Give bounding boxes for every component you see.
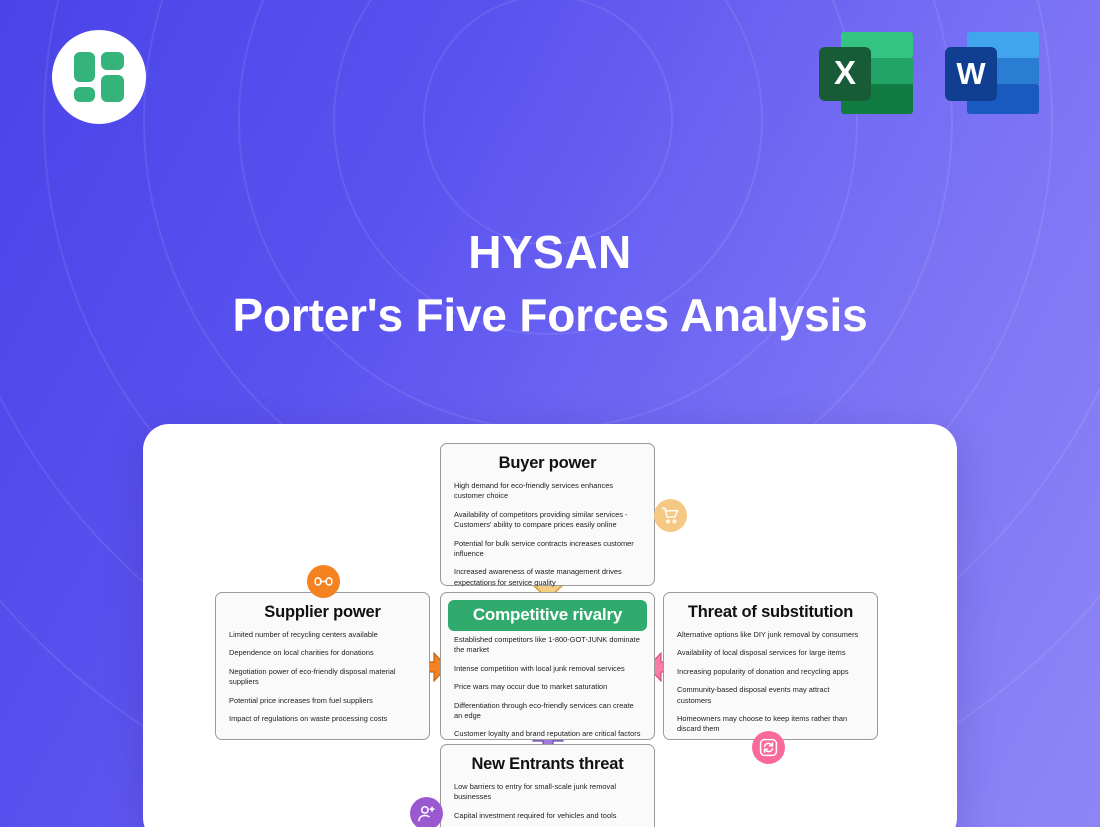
slide-canvas: X W HYSAN Porter's Five Forces Analysis: [0, 0, 1100, 827]
link-chain-icon: [314, 572, 333, 591]
force-item: Customer loyalty and brand reputation ar…: [454, 729, 641, 739]
force-item: Increasing popularity of donation and re…: [677, 667, 864, 677]
ring-1: [423, 0, 673, 245]
force-items: Established competitors like 1-800-GOT-J…: [448, 635, 647, 740]
force-item: Low barriers to entry for small-scale ju…: [454, 782, 641, 803]
refresh-sync-icon: [759, 738, 778, 757]
porters-five-forces-diagram: Buyer power High demand for eco-friendly…: [143, 424, 957, 827]
add-user-icon: [417, 804, 436, 823]
force-item: High demand for eco-friendly services en…: [454, 481, 641, 502]
title-block: HYSAN Porter's Five Forces Analysis: [0, 222, 1100, 348]
force-item: Impact of regulations on waste processin…: [229, 714, 416, 724]
force-items: High demand for eco-friendly services en…: [448, 481, 647, 588]
svg-text:W: W: [956, 56, 986, 91]
force-item: Community-based disposal events may attr…: [677, 685, 864, 706]
force-title: Supplier power: [223, 600, 422, 630]
force-title: Threat of substitution: [671, 600, 870, 630]
force-box-threat-of-substitution[interactable]: Threat of substitution Alternative optio…: [663, 592, 878, 740]
force-items: Alternative options like DIY junk remova…: [671, 630, 870, 735]
grid-dashboard-icon: [71, 49, 127, 105]
new-entrants-threat-badge[interactable]: [410, 797, 443, 827]
force-title: New Entrants threat: [448, 752, 647, 782]
force-item: Availability of local disposal services …: [677, 648, 864, 658]
ring-3: [238, 0, 858, 430]
svg-text:X: X: [834, 54, 856, 91]
diagram-card: Buyer power High demand for eco-friendly…: [143, 424, 957, 827]
force-item: Price wars may occur due to market satur…: [454, 682, 641, 692]
office-app-icons: X W: [816, 28, 1046, 120]
force-title: Buyer power: [448, 451, 647, 481]
force-box-competitive-rivalry[interactable]: Competitive rivalry Established competit…: [440, 592, 655, 740]
force-item: Potential price increases from fuel supp…: [229, 696, 416, 706]
force-box-supplier-power[interactable]: Supplier power Limited number of recycli…: [215, 592, 430, 740]
buyer-power-badge[interactable]: [654, 499, 687, 532]
supplier-power-badge[interactable]: [307, 565, 340, 598]
force-item: Dependence on local charities for donati…: [229, 648, 416, 658]
force-item: Negotiation power of eco-friendly dispos…: [229, 667, 416, 688]
brand-title: HYSAN: [0, 222, 1100, 282]
force-item: Alternative options like DIY junk remova…: [677, 630, 864, 640]
force-item: Intense competition with local junk remo…: [454, 664, 641, 674]
force-item: Established competitors like 1-800-GOT-J…: [454, 635, 641, 656]
force-item: Availability of competitors providing si…: [454, 510, 641, 531]
word-icon: W: [942, 28, 1046, 120]
force-box-buyer-power[interactable]: Buyer power High demand for eco-friendly…: [440, 443, 655, 586]
force-item: Differentiation through eco-friendly ser…: [454, 701, 641, 722]
force-item: Capital investment required for vehicles…: [454, 811, 641, 821]
force-item: Increased awareness of waste management …: [454, 567, 641, 588]
brand-logo: [52, 30, 146, 124]
force-box-new-entrants-threat[interactable]: New Entrants threat Low barriers to entr…: [440, 744, 655, 827]
page-title: Porter's Five Forces Analysis: [0, 282, 1100, 348]
threat-of-substitution-badge[interactable]: [752, 731, 785, 764]
excel-icon: X: [816, 28, 920, 120]
shopping-cart-icon: [661, 506, 680, 525]
force-items: Limited number of recycling centers avai…: [223, 630, 422, 724]
force-item: Limited number of recycling centers avai…: [229, 630, 416, 640]
force-items: Low barriers to entry for small-scale ju…: [448, 782, 647, 827]
force-item: Potential for bulk service contracts inc…: [454, 539, 641, 560]
force-title: Competitive rivalry: [448, 600, 647, 631]
